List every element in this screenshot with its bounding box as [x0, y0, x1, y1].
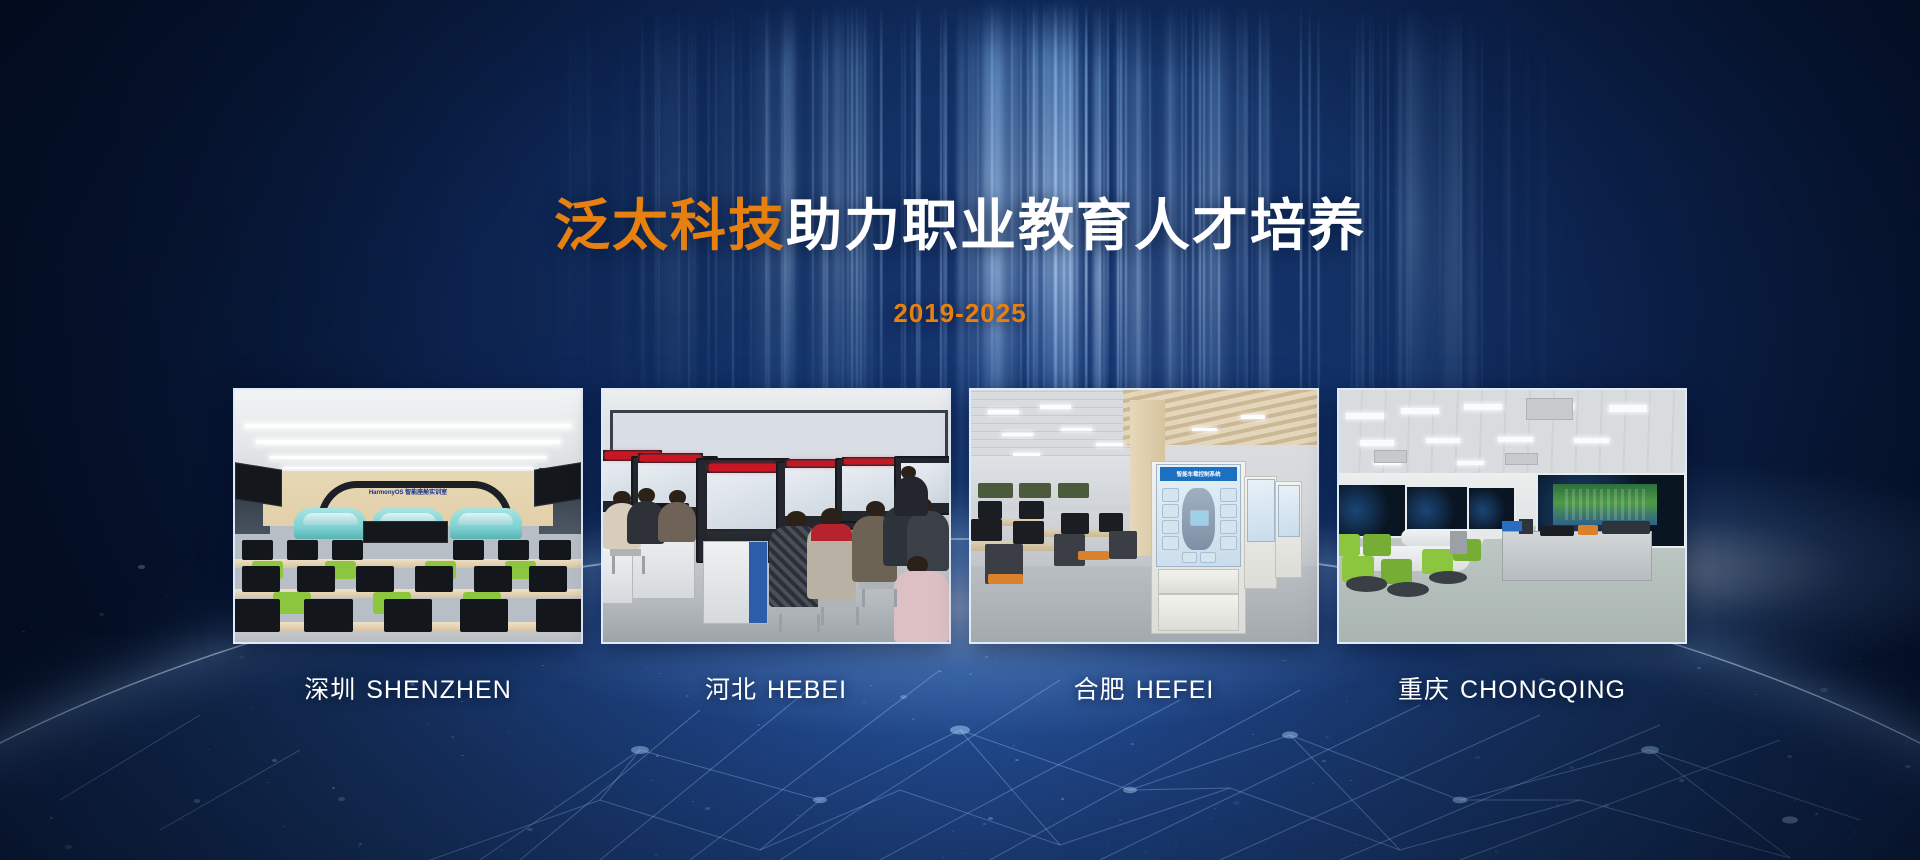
page-title: 泛太科技助力职业教育人才培养 [0, 195, 1920, 257]
showcase-card-chongqing[interactable]: 重庆CHONGQING [1337, 388, 1687, 706]
photo3-banner-text: 智能车载控制系统 [1160, 467, 1236, 481]
caption-en-hefei: HEFEI [1136, 676, 1215, 704]
photo-hebei[interactable] [601, 388, 951, 644]
caption-en-chongqing: CHONGQING [1460, 676, 1626, 704]
caption-en-hebei: HEBEI [767, 676, 847, 704]
promo-banner: 泛太科技助力职业教育人才培养 2019-2025 [0, 0, 1920, 860]
photo-chongqing[interactable] [1337, 388, 1687, 644]
caption-cn-hebei: 河北 [705, 676, 757, 704]
showcase-card-hebei[interactable]: 河北HEBEI [601, 388, 951, 706]
caption-hebei: 河北HEBEI [601, 670, 951, 706]
caption-cn-chongqing: 重庆 [1398, 676, 1450, 704]
showcase-card-hefei[interactable]: 智能车载控制系统 [969, 388, 1319, 706]
caption-cn-shenzhen: 深圳 [304, 676, 356, 704]
showcase-card-list: HarmonyOS 智能座舱实训室 [0, 388, 1920, 706]
year-range-subtitle: 2019-2025 [0, 298, 1920, 329]
caption-chongqing: 重庆CHONGQING [1337, 670, 1687, 706]
photo-shenzhen[interactable]: HarmonyOS 智能座舱实训室 [233, 388, 583, 644]
caption-shenzhen: 深圳SHENZHEN [233, 670, 583, 706]
showcase-card-shenzhen[interactable]: HarmonyOS 智能座舱实训室 [233, 388, 583, 706]
title-brand: 泛太科技 [554, 194, 786, 257]
photo-hefei[interactable]: 智能车载控制系统 [969, 388, 1319, 644]
title-rest: 助力职业教育人才培养 [786, 194, 1366, 257]
caption-cn-hefei: 合肥 [1074, 676, 1126, 704]
banner-content: 泛太科技助力职业教育人才培养 2019-2025 [0, 0, 1920, 860]
caption-hefei: 合肥HEFEI [969, 670, 1319, 706]
photo1-banner-text: HarmonyOS 智能座舱实训室 [328, 487, 487, 500]
caption-en-shenzhen: SHENZHEN [366, 676, 512, 704]
